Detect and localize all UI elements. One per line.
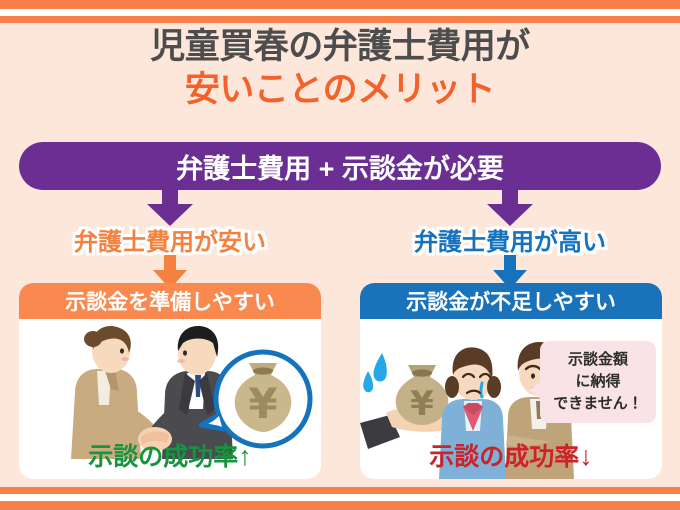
left-card-header: 示談金を準備しやすい	[19, 283, 321, 319]
left-card-body: ¥ 示談の成功率↑	[19, 319, 321, 479]
premise-banner: 弁護士費用 + 示談金が必要	[19, 142, 661, 190]
arrow-up-icon-left-result: ↑	[238, 441, 252, 471]
right-result: 示談の成功率↓	[360, 437, 662, 473]
arrow-down-icon-right-branch	[487, 186, 533, 226]
complaint-speech-bubble: 示談金額 に納得 できません！	[540, 341, 656, 423]
page-title-line2: 安いことのメリット	[0, 69, 680, 110]
right-card-header: 示談金が不足しやすい	[360, 283, 662, 319]
complaint-line3: できません！	[544, 393, 652, 415]
complaint-line2: に納得	[544, 371, 652, 393]
bottom-rule-gap	[0, 494, 680, 501]
left-condition-label: 弁護士費用が安い	[10, 222, 330, 257]
infographic-root: 児童買春の弁護士費用が 安いことのメリット 弁護士費用 + 示談金が必要 弁護士…	[0, 0, 680, 510]
money-bag-currency: ¥	[410, 384, 434, 424]
arrow-down-icon-right-result: ↓	[579, 441, 593, 471]
speech-bubble-tail	[529, 381, 541, 399]
premise-banner-label: 弁護士費用 + 示談金が必要	[176, 147, 504, 186]
page-title-line1: 児童買春の弁護士費用が	[0, 26, 680, 67]
arrow-stem	[162, 186, 178, 206]
bottom-rule-inner	[0, 487, 680, 494]
right-outcome-card: 示談金が不足しやすい ¥	[360, 283, 662, 479]
right-result-label: 示談の成功率	[429, 443, 579, 471]
arrow-down-icon-left-branch	[147, 186, 193, 226]
top-rule-outer	[0, 0, 680, 9]
right-card-header-label: 示談金が不足しやすい	[406, 286, 616, 316]
top-rule-inner	[0, 16, 680, 23]
top-rule-gap	[0, 9, 680, 16]
complaint-line1: 示談金額	[544, 349, 652, 371]
left-outcome-card: 示談金を準備しやすい	[19, 283, 321, 479]
arrow-stem	[502, 186, 518, 206]
left-result: 示談の成功率↑	[19, 437, 321, 473]
money-bag-currency: ¥	[248, 379, 277, 428]
right-condition-label: 弁護士費用が高い	[350, 222, 670, 257]
right-card-body: ¥	[360, 319, 662, 479]
left-result-label: 示談の成功率	[88, 443, 238, 471]
page-title: 児童買春の弁護士費用が 安いことのメリット	[0, 26, 680, 111]
bottom-rule-outer	[0, 501, 680, 510]
left-card-header-label: 示談金を準備しやすい	[65, 286, 275, 316]
